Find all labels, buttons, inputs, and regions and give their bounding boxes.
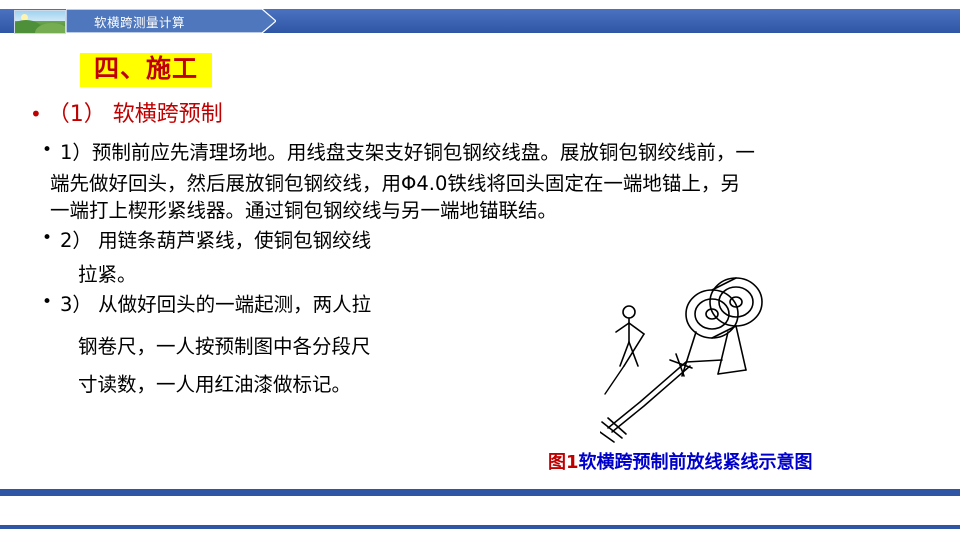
bullet-dot-icon: • xyxy=(42,227,52,250)
figure-caption-text: 软横跨预制前放线紧线示意图 xyxy=(579,452,813,473)
figure-caption: 图1软横跨预制前放线紧线示意图 xyxy=(548,448,813,474)
landscape-logo-icon xyxy=(14,10,66,34)
header-title: 软横跨测量计算 xyxy=(94,12,185,31)
list-item-line: 2） 用链条葫芦紧线，使铜包钢绞线 xyxy=(60,228,602,255)
topic-bullet-item: •（1） 软横跨预制 xyxy=(30,96,223,128)
list-item-line: 一端打上楔形紧线器。通过铜包钢绞线与另一端地锚联结。 xyxy=(50,194,557,223)
list-item: • 3） 从做好回头的一端起测，两人拉 xyxy=(42,292,602,319)
header-title-tab: 软横跨测量计算 xyxy=(66,9,276,33)
logo-hill-shape-2 xyxy=(35,23,66,34)
footer-divider-bottom xyxy=(0,525,960,529)
list-item-line: 寸读数，一人用红油漆做标记。 xyxy=(78,368,351,397)
bullet-dot-icon: • xyxy=(42,139,52,162)
bullet-dot-icon: • xyxy=(42,291,52,314)
list-item: • 1）预制前应先清理场地。用线盘支架支好铜包钢绞线盘。展放铜包钢绞线前，一 xyxy=(42,140,922,167)
topic-label: （1） 软横跨预制 xyxy=(48,102,223,127)
list-item: • 2） 用链条葫芦紧线，使铜包钢绞线 xyxy=(42,228,602,255)
rope-reel-tensioning-diagram xyxy=(600,270,930,450)
figure-caption-prefix: 图1 xyxy=(548,452,579,473)
footer-divider-top xyxy=(0,489,960,496)
bullet-dot-icon: • xyxy=(30,102,42,126)
list-item-line: 端先做好回头，然后展放铜包钢绞线，用Φ4.0铁线将回头固定在一端地锚上，另 xyxy=(50,167,740,196)
list-item-line: 钢卷尺，一人按预制图中各分段尺 xyxy=(78,330,371,359)
list-item-line: 拉紧。 xyxy=(78,258,137,287)
slide-header: 软横跨测量计算 xyxy=(0,0,960,42)
page-title: 四、施工 xyxy=(94,55,198,83)
section-heading-highlight: 四、施工 xyxy=(80,53,212,87)
diagram-drawing xyxy=(600,270,930,450)
list-item-line: 1）预制前应先清理场地。用线盘支架支好铜包钢绞线盘。展放铜包钢绞线前，一 xyxy=(60,140,922,167)
list-item-line: 3） 从做好回头的一端起测，两人拉 xyxy=(60,292,602,319)
